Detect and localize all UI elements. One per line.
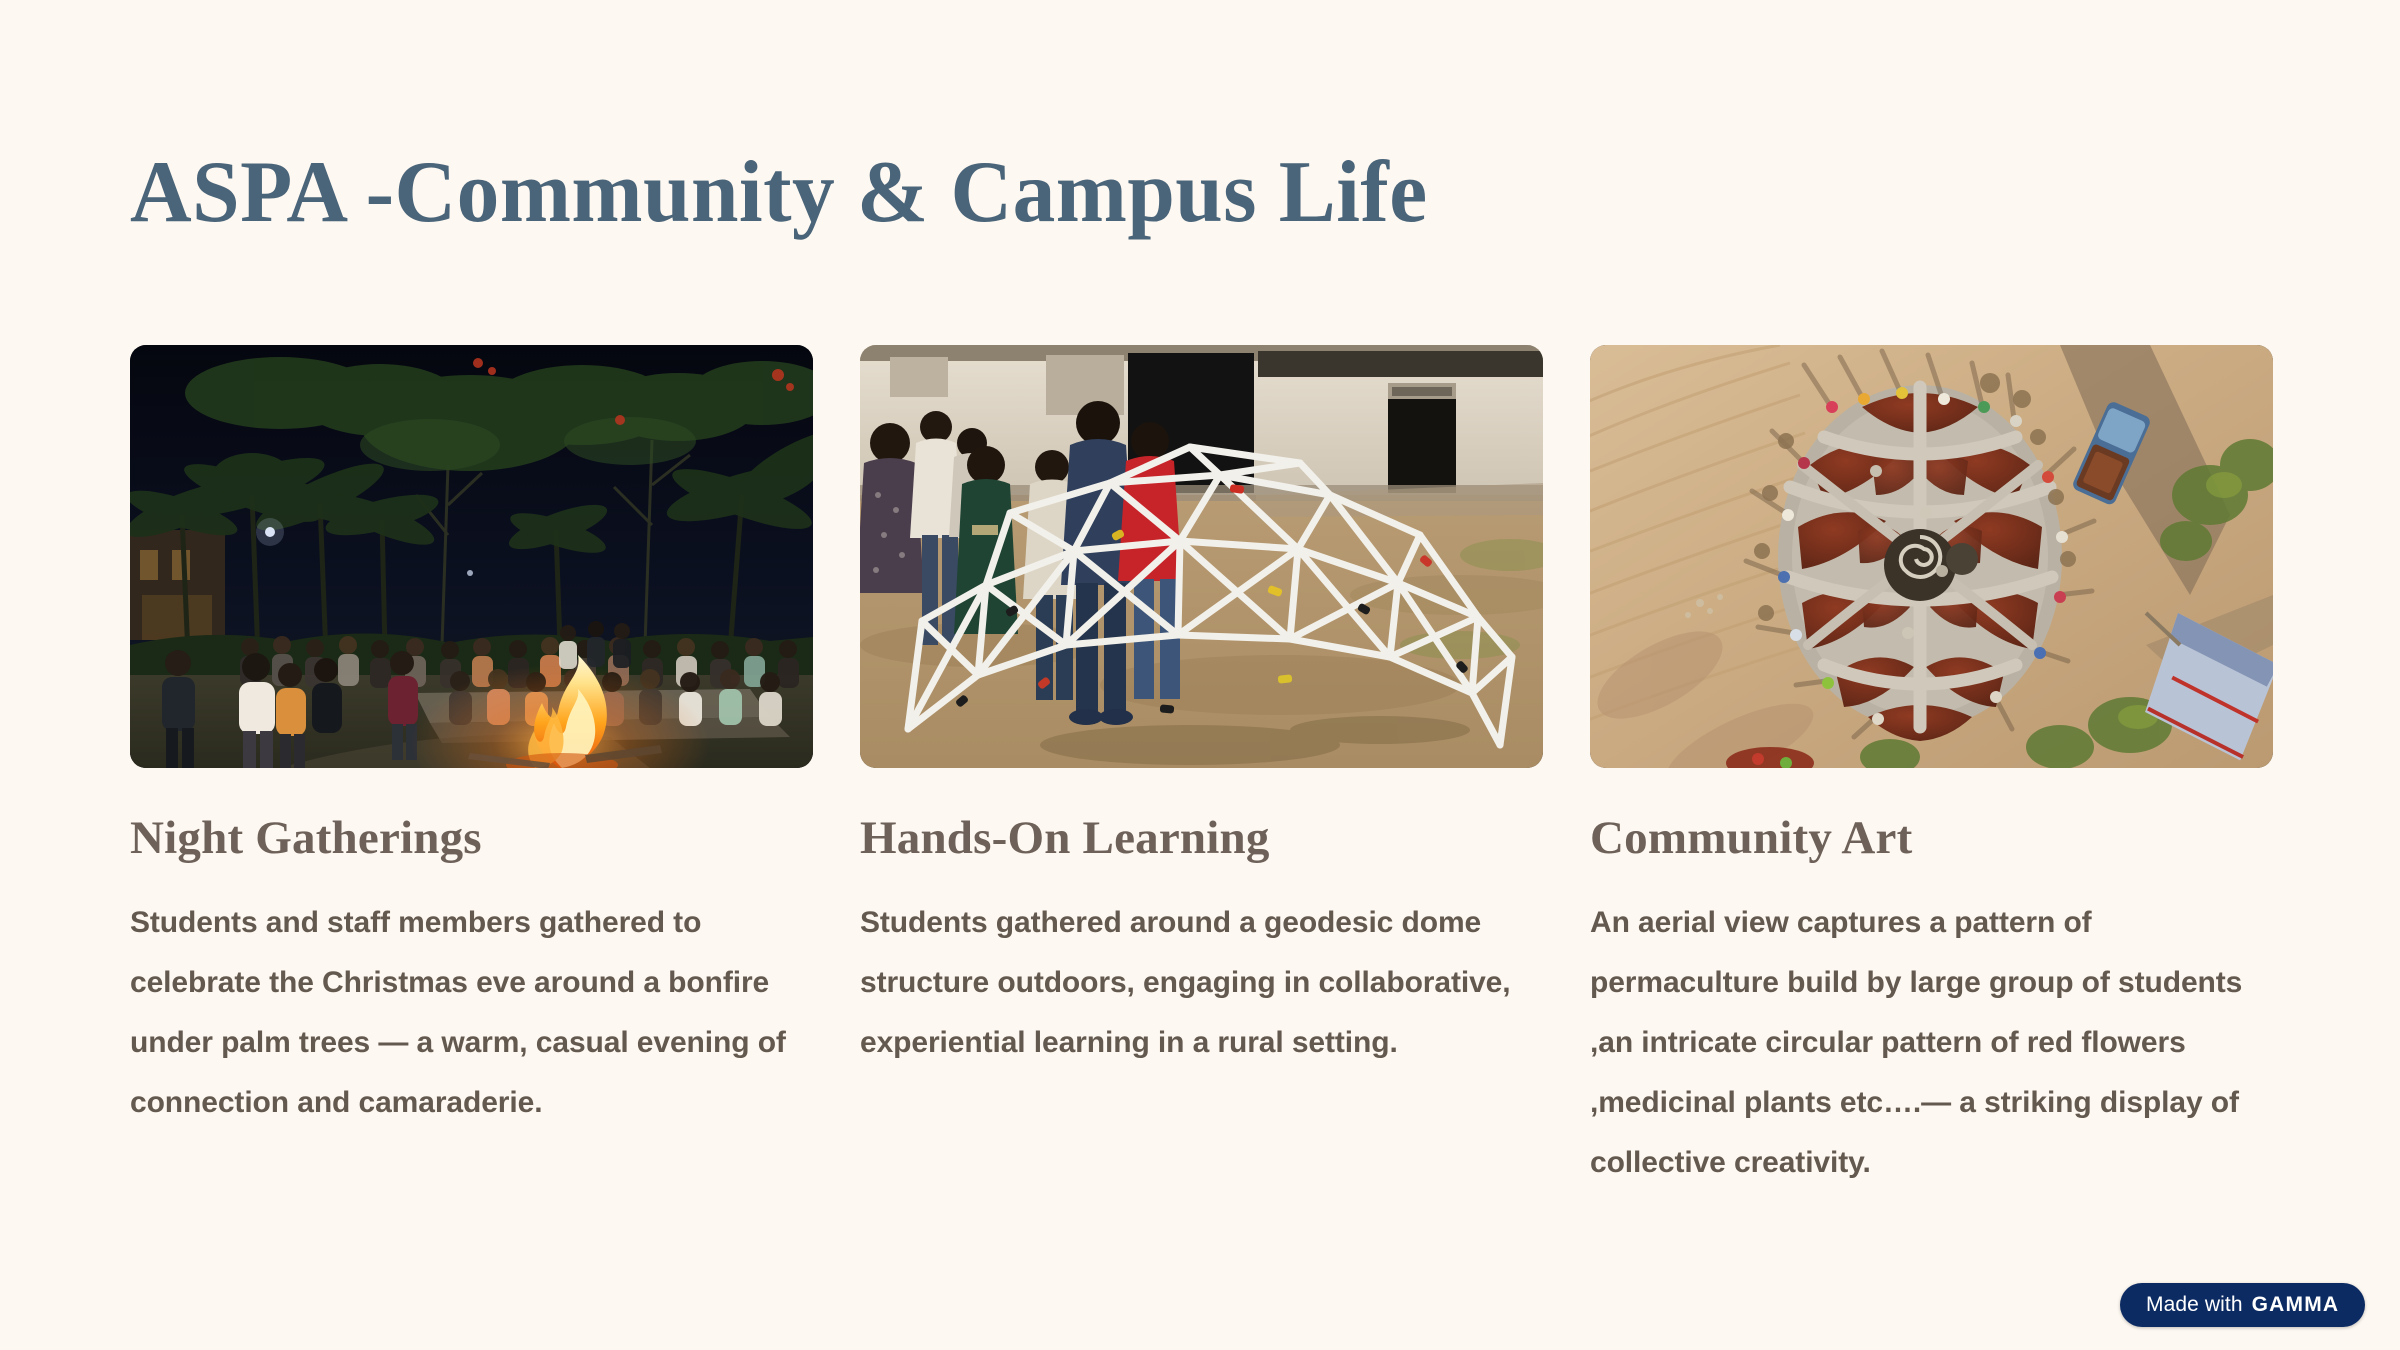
night-gathering-photo	[130, 345, 813, 768]
card-title: Night Gatherings	[130, 812, 813, 865]
cards-row: Night Gatherings Students and staff memb…	[130, 345, 2272, 1193]
gamma-brand-label: GAMMA	[2252, 1293, 2340, 1317]
slide-canvas: ASPA -Community & Campus Life	[0, 0, 2400, 1350]
card-title: Hands-On Learning	[860, 812, 1543, 865]
card-title: Community Art	[1590, 812, 2273, 865]
made-with-label: Made with	[2146, 1293, 2243, 1317]
card-community-art: Community Art An aerial view captures a …	[1590, 345, 2273, 1193]
card-body: Students gathered around a geodesic dome…	[860, 893, 1543, 1073]
card-hands-on-learning: Hands-On Learning Students gathered arou…	[860, 345, 1543, 1193]
geodesic-dome-photo	[860, 345, 1543, 768]
page-title: ASPA -Community & Campus Life	[130, 145, 1428, 240]
permaculture-aerial-photo	[1590, 345, 2273, 768]
card-body: An aerial view captures a pattern of per…	[1590, 893, 2273, 1193]
card-night-gatherings: Night Gatherings Students and staff memb…	[130, 345, 813, 1193]
made-with-gamma-badge[interactable]: Made with GAMMA	[2120, 1283, 2365, 1327]
card-body: Students and staff members gathered to c…	[130, 893, 813, 1133]
